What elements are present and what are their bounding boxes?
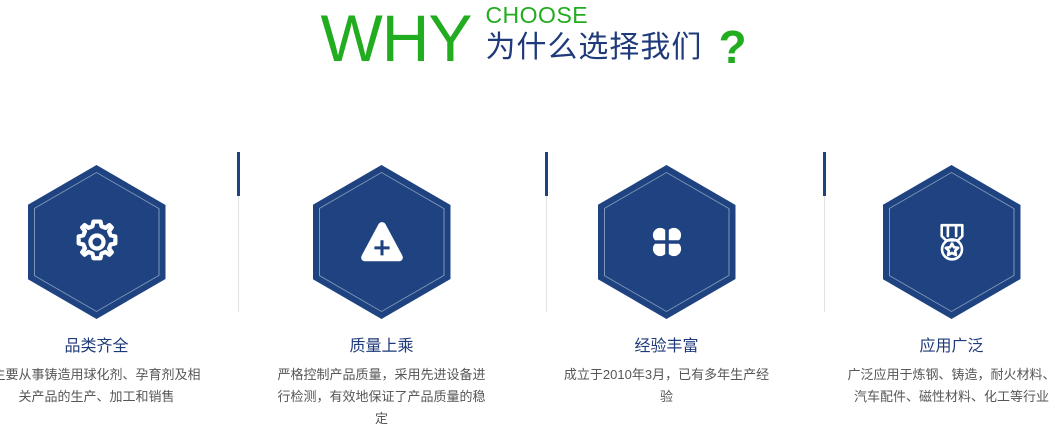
card-description: 主要从事铸造用球化剂、孕育剂及相关产品的生产、加工和销售 bbox=[0, 364, 229, 408]
clover-icon bbox=[598, 165, 736, 319]
hexagon-badge bbox=[883, 165, 1021, 319]
section-heading: WHY CHOOSE 为什么选择我们 ? bbox=[0, 0, 1055, 100]
card-title: 质量上乘 bbox=[249, 336, 514, 358]
card-description: 严格控制产品质量，采用先进设备进行检测，有效地保证了产品质量的稳定 bbox=[249, 364, 514, 430]
feature-card: 经验丰富 成立于2010年3月，已有多年生产经验 bbox=[534, 140, 799, 408]
card-title: 应用广泛 bbox=[819, 336, 1055, 358]
card-title: 品类齐全 bbox=[0, 336, 229, 358]
card-title: 经验丰富 bbox=[534, 336, 799, 358]
why-choose-us-section: WHY CHOOSE 为什么选择我们 ? bbox=[0, 0, 1055, 416]
feature-card-list: 品类齐全 主要从事铸造用球化剂、孕育剂及相关产品的生产、加工和销售 质量上乘 严… bbox=[0, 140, 1055, 416]
card-description: 成立于2010年3月，已有多年生产经验 bbox=[534, 364, 799, 408]
hexagon-badge bbox=[313, 165, 451, 319]
feature-card: 品类齐全 主要从事铸造用球化剂、孕育剂及相关产品的生产、加工和销售 bbox=[0, 140, 229, 408]
card-description: 广泛应用于炼钢、铸造，耐火材料、汽车配件、磁性材料、化工等行业 bbox=[819, 364, 1055, 408]
medal-icon bbox=[883, 165, 1021, 319]
hexagon-badge bbox=[598, 165, 736, 319]
gear-icon bbox=[28, 165, 166, 319]
heading-choose-word: CHOOSE bbox=[485, 2, 746, 28]
heading-chinese-title: 为什么选择我们 bbox=[485, 30, 702, 66]
feature-card: 质量上乘 严格控制产品质量，采用先进设备进行检测，有效地保证了产品质量的稳定 bbox=[249, 140, 514, 430]
heading-question-mark: ? bbox=[718, 27, 746, 67]
hexagon-badge bbox=[28, 165, 166, 319]
triangle-plus-icon bbox=[313, 165, 451, 319]
heading-why-word: WHY bbox=[320, 2, 471, 74]
feature-card: 应用广泛 广泛应用于炼钢、铸造，耐火材料、汽车配件、磁性材料、化工等行业 bbox=[819, 140, 1055, 408]
